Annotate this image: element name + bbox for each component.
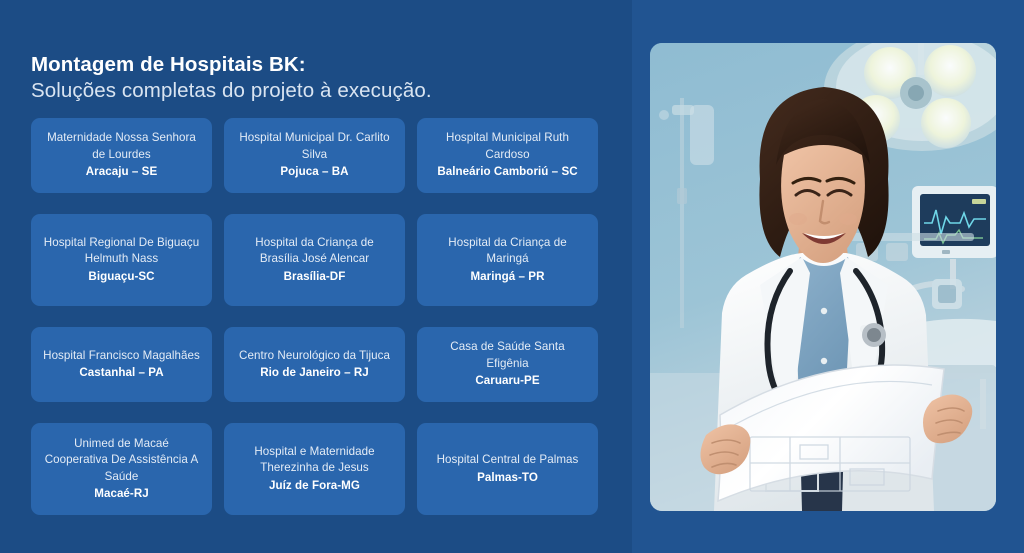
hospital-card: Hospital Municipal Ruth CardosoBalneário… [417, 118, 598, 193]
hospital-card: Hospital Regional De Biguaçu Helmuth Nas… [31, 214, 212, 306]
hospital-name: Unimed de Macaé Cooperativa De Assistênc… [43, 436, 200, 486]
hospital-name: Casa de Saúde Santa Efigênia [429, 339, 586, 372]
hospital-card: Hospital Central de PalmasPalmas-TO [417, 423, 598, 515]
hospital-location: Brasília-DF [284, 269, 346, 286]
hospital-card: Hospital Francisco MagalhãesCastanhal – … [31, 327, 212, 402]
hospital-location: Juíz de Fora-MG [269, 478, 360, 495]
hospital-name: Hospital da Criança de Brasília José Ale… [236, 235, 393, 268]
hospital-location: Pojuca – BA [280, 164, 348, 181]
hospital-card: Unimed de Macaé Cooperativa De Assistênc… [31, 423, 212, 515]
hospital-name: Hospital e Maternidade Therezinha de Jes… [236, 444, 393, 477]
title-line-1: Montagem de Hospitais BK: [31, 52, 591, 78]
hospital-card: Hospital da Criança de Brasília José Ale… [224, 214, 405, 306]
hospital-name: Hospital Central de Palmas [437, 452, 579, 469]
hospital-location: Biguaçu-SC [88, 269, 154, 286]
hospital-card: Centro Neurológico da TijucaRio de Janei… [224, 327, 405, 402]
hospital-location: Caruaru-PE [475, 373, 539, 390]
hospital-name: Hospital Municipal Ruth Cardoso [429, 130, 586, 163]
slide-root: Montagem de Hospitais BK: Soluções compl… [0, 0, 1024, 553]
doctor-with-blueprint-photo [650, 43, 996, 511]
hospital-card: Hospital Municipal Dr. Carlito SilvaPoju… [224, 118, 405, 193]
hospital-name: Hospital Francisco Magalhães [43, 348, 200, 365]
hospital-card-grid: Maternidade Nossa Senhora de LourdesArac… [31, 118, 599, 515]
hospital-name: Maternidade Nossa Senhora de Lourdes [43, 130, 200, 163]
hospital-card: Hospital e Maternidade Therezinha de Jes… [224, 423, 405, 515]
hospital-card: Casa de Saúde Santa EfigêniaCaruaru-PE [417, 327, 598, 402]
hospital-location: Macaé-RJ [94, 486, 149, 503]
page-title: Montagem de Hospitais BK: Soluções compl… [31, 52, 591, 104]
hospital-card: Maternidade Nossa Senhora de LourdesArac… [31, 118, 212, 193]
hospital-location: Balneário Camboriú – SC [437, 164, 577, 181]
hospital-location: Maringá – PR [470, 269, 544, 286]
hospital-location: Rio de Janeiro – RJ [260, 365, 369, 382]
title-line-2: Soluções completas do projeto à execução… [31, 78, 591, 104]
hospital-name: Hospital da Criança de Maringá [429, 235, 586, 268]
hospital-name: Hospital Municipal Dr. Carlito Silva [236, 130, 393, 163]
hospital-location: Aracaju – SE [86, 164, 158, 181]
hospital-card: Hospital da Criança de MaringáMaringá – … [417, 214, 598, 306]
hospital-location: Castanhal – PA [79, 365, 163, 382]
hospital-location: Palmas-TO [477, 470, 538, 487]
hospital-name: Centro Neurológico da Tijuca [239, 348, 390, 365]
hospital-name: Hospital Regional De Biguaçu Helmuth Nas… [43, 235, 200, 268]
